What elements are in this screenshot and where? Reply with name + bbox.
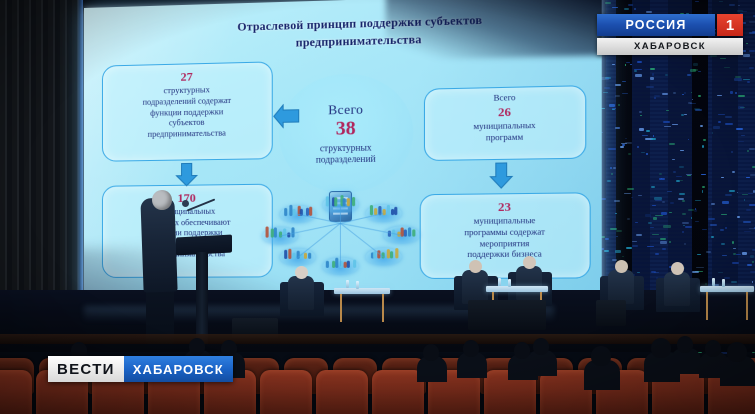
microphone-icon [182, 200, 189, 207]
panel-participant-body [288, 276, 314, 310]
panel-participant-head [671, 262, 684, 275]
channel-logo: РОССИЯ 1 ХАБАРОВСК [597, 14, 743, 55]
water-bottle [508, 279, 511, 287]
box-23-line4: поддержки бизнеса [427, 249, 583, 261]
audience-seat [316, 370, 368, 414]
center-number: 38 [336, 119, 356, 141]
screen-shadow-top [386, 0, 602, 61]
slide-box-23: 23 муниципальные программы содержат меро… [420, 192, 591, 279]
water-bottle [712, 278, 715, 286]
panel-participant-body [608, 270, 634, 304]
audience-head [705, 340, 721, 357]
program-logo: ВЕСТИ ХАБАРОВСК [48, 356, 233, 382]
table-leg [382, 294, 384, 322]
program-logo-name: ВЕСТИ [48, 356, 124, 382]
water-bottle [346, 280, 349, 288]
podium-stem [196, 252, 208, 344]
panel-participant-head [615, 260, 628, 273]
audience-head [727, 342, 747, 362]
arrow-down-right-icon [488, 162, 514, 189]
audience-head [463, 340, 479, 357]
speaker-head [152, 190, 172, 210]
water-bottle [498, 278, 501, 286]
water-bottle [722, 279, 725, 287]
box-26-number: 26 [431, 103, 578, 121]
channel-logo-name: РОССИЯ [597, 14, 715, 36]
arrow-left-icon [273, 104, 300, 129]
panel-participant-head [295, 266, 308, 279]
table-leg [706, 292, 708, 320]
audience-head [221, 340, 237, 357]
box-23-number: 23 [427, 199, 583, 216]
water-bottle [356, 281, 359, 289]
arrow-down-left-icon [174, 162, 198, 187]
center-label-line1: структурных [316, 142, 376, 155]
box-23-line3: мероприятия [427, 238, 583, 250]
channel-logo-region: ХАБАРОВСК [597, 38, 743, 55]
panel-participant-body [462, 270, 488, 304]
panel-participant-head [523, 256, 536, 269]
slide-box-26: Всего 26 муниципальных программ [424, 85, 586, 161]
panel-participant-body [664, 272, 690, 306]
channel-logo-number: 1 [717, 14, 743, 36]
audience-seat [260, 370, 312, 414]
audience-head [423, 344, 439, 361]
audience-head [189, 338, 205, 355]
audience-head [514, 342, 530, 359]
audience-head [651, 338, 671, 358]
stage-monitor [468, 300, 546, 330]
table-leg [340, 294, 342, 322]
box-27-line5: предпринимательства [109, 128, 266, 142]
broadcast-frame: Отраслевой принцип поддержки субъектов п… [0, 0, 755, 414]
audience-head [591, 346, 611, 366]
slide-box-27: 27 структурных подразделений содержат фу… [102, 61, 273, 161]
box-26-line2: программ [431, 131, 578, 145]
speaker-body [140, 197, 177, 292]
center-summary-circle: Всего 38 структурных подразделений [279, 72, 413, 193]
audience-seat [0, 370, 32, 414]
center-label-line2: подразделений [316, 153, 376, 165]
panel-participant-head [469, 260, 482, 273]
audience-head [533, 338, 549, 355]
table-leg [746, 292, 748, 320]
panel-table [486, 286, 548, 292]
audience-head [677, 336, 693, 353]
center-label-top: Всего [328, 101, 363, 118]
panel-participant-body [516, 266, 542, 300]
program-logo-region: ХАБАРОВСК [124, 356, 233, 382]
stage-monitor [596, 300, 626, 326]
